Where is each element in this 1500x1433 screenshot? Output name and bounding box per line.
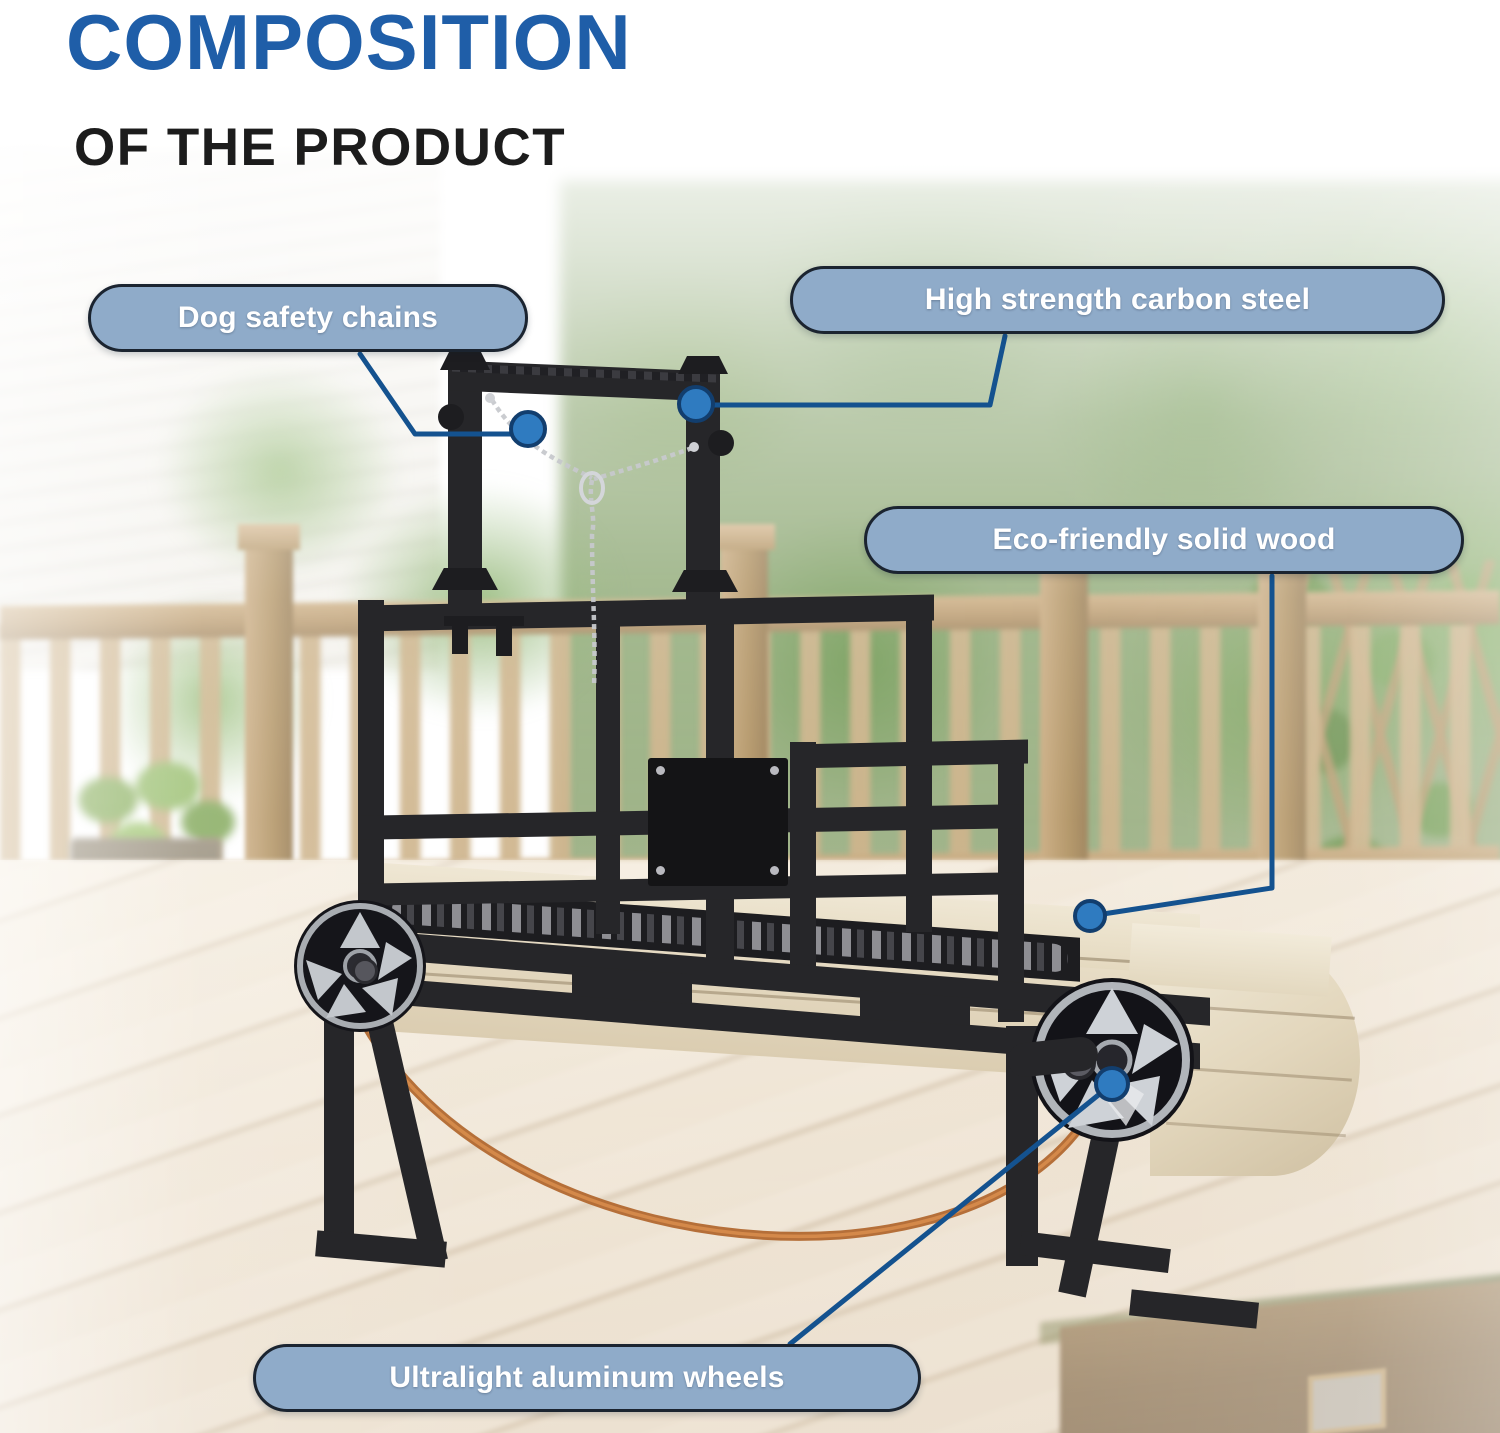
callout-ultralight-aluminum-wheels[interactable]: Ultralight aluminum wheels [253, 1344, 921, 1412]
product-portable-sawmill [0, 0, 1500, 1433]
wheel-left-axle-bolt [352, 958, 378, 984]
callout-label-eco-friendly-solid-wood: Eco-friendly solid wood [993, 523, 1336, 557]
hanger-clamp-bar [444, 616, 524, 626]
infographic-canvas: Dog safety chains High strength carbon s… [0, 0, 1500, 1433]
callout-high-strength-carbon-steel[interactable]: High strength carbon steel [790, 266, 1445, 334]
callout-eco-friendly-solid-wood[interactable]: Eco-friendly solid wood [864, 506, 1464, 574]
callout-label-high-strength-carbon-steel: High strength carbon steel [925, 283, 1310, 317]
page-title-secondary: OF THE PRODUCT [74, 120, 566, 175]
callout-label-dog-safety-chains: Dog safety chains [178, 301, 438, 335]
callout-label-ultralight-aluminum-wheels: Ultralight aluminum wheels [389, 1361, 784, 1395]
page-title-primary: COMPOSITION [66, 2, 632, 83]
dog-safety-chain [0, 0, 1500, 1433]
callout-dog-safety-chains[interactable]: Dog safety chains [88, 284, 528, 352]
